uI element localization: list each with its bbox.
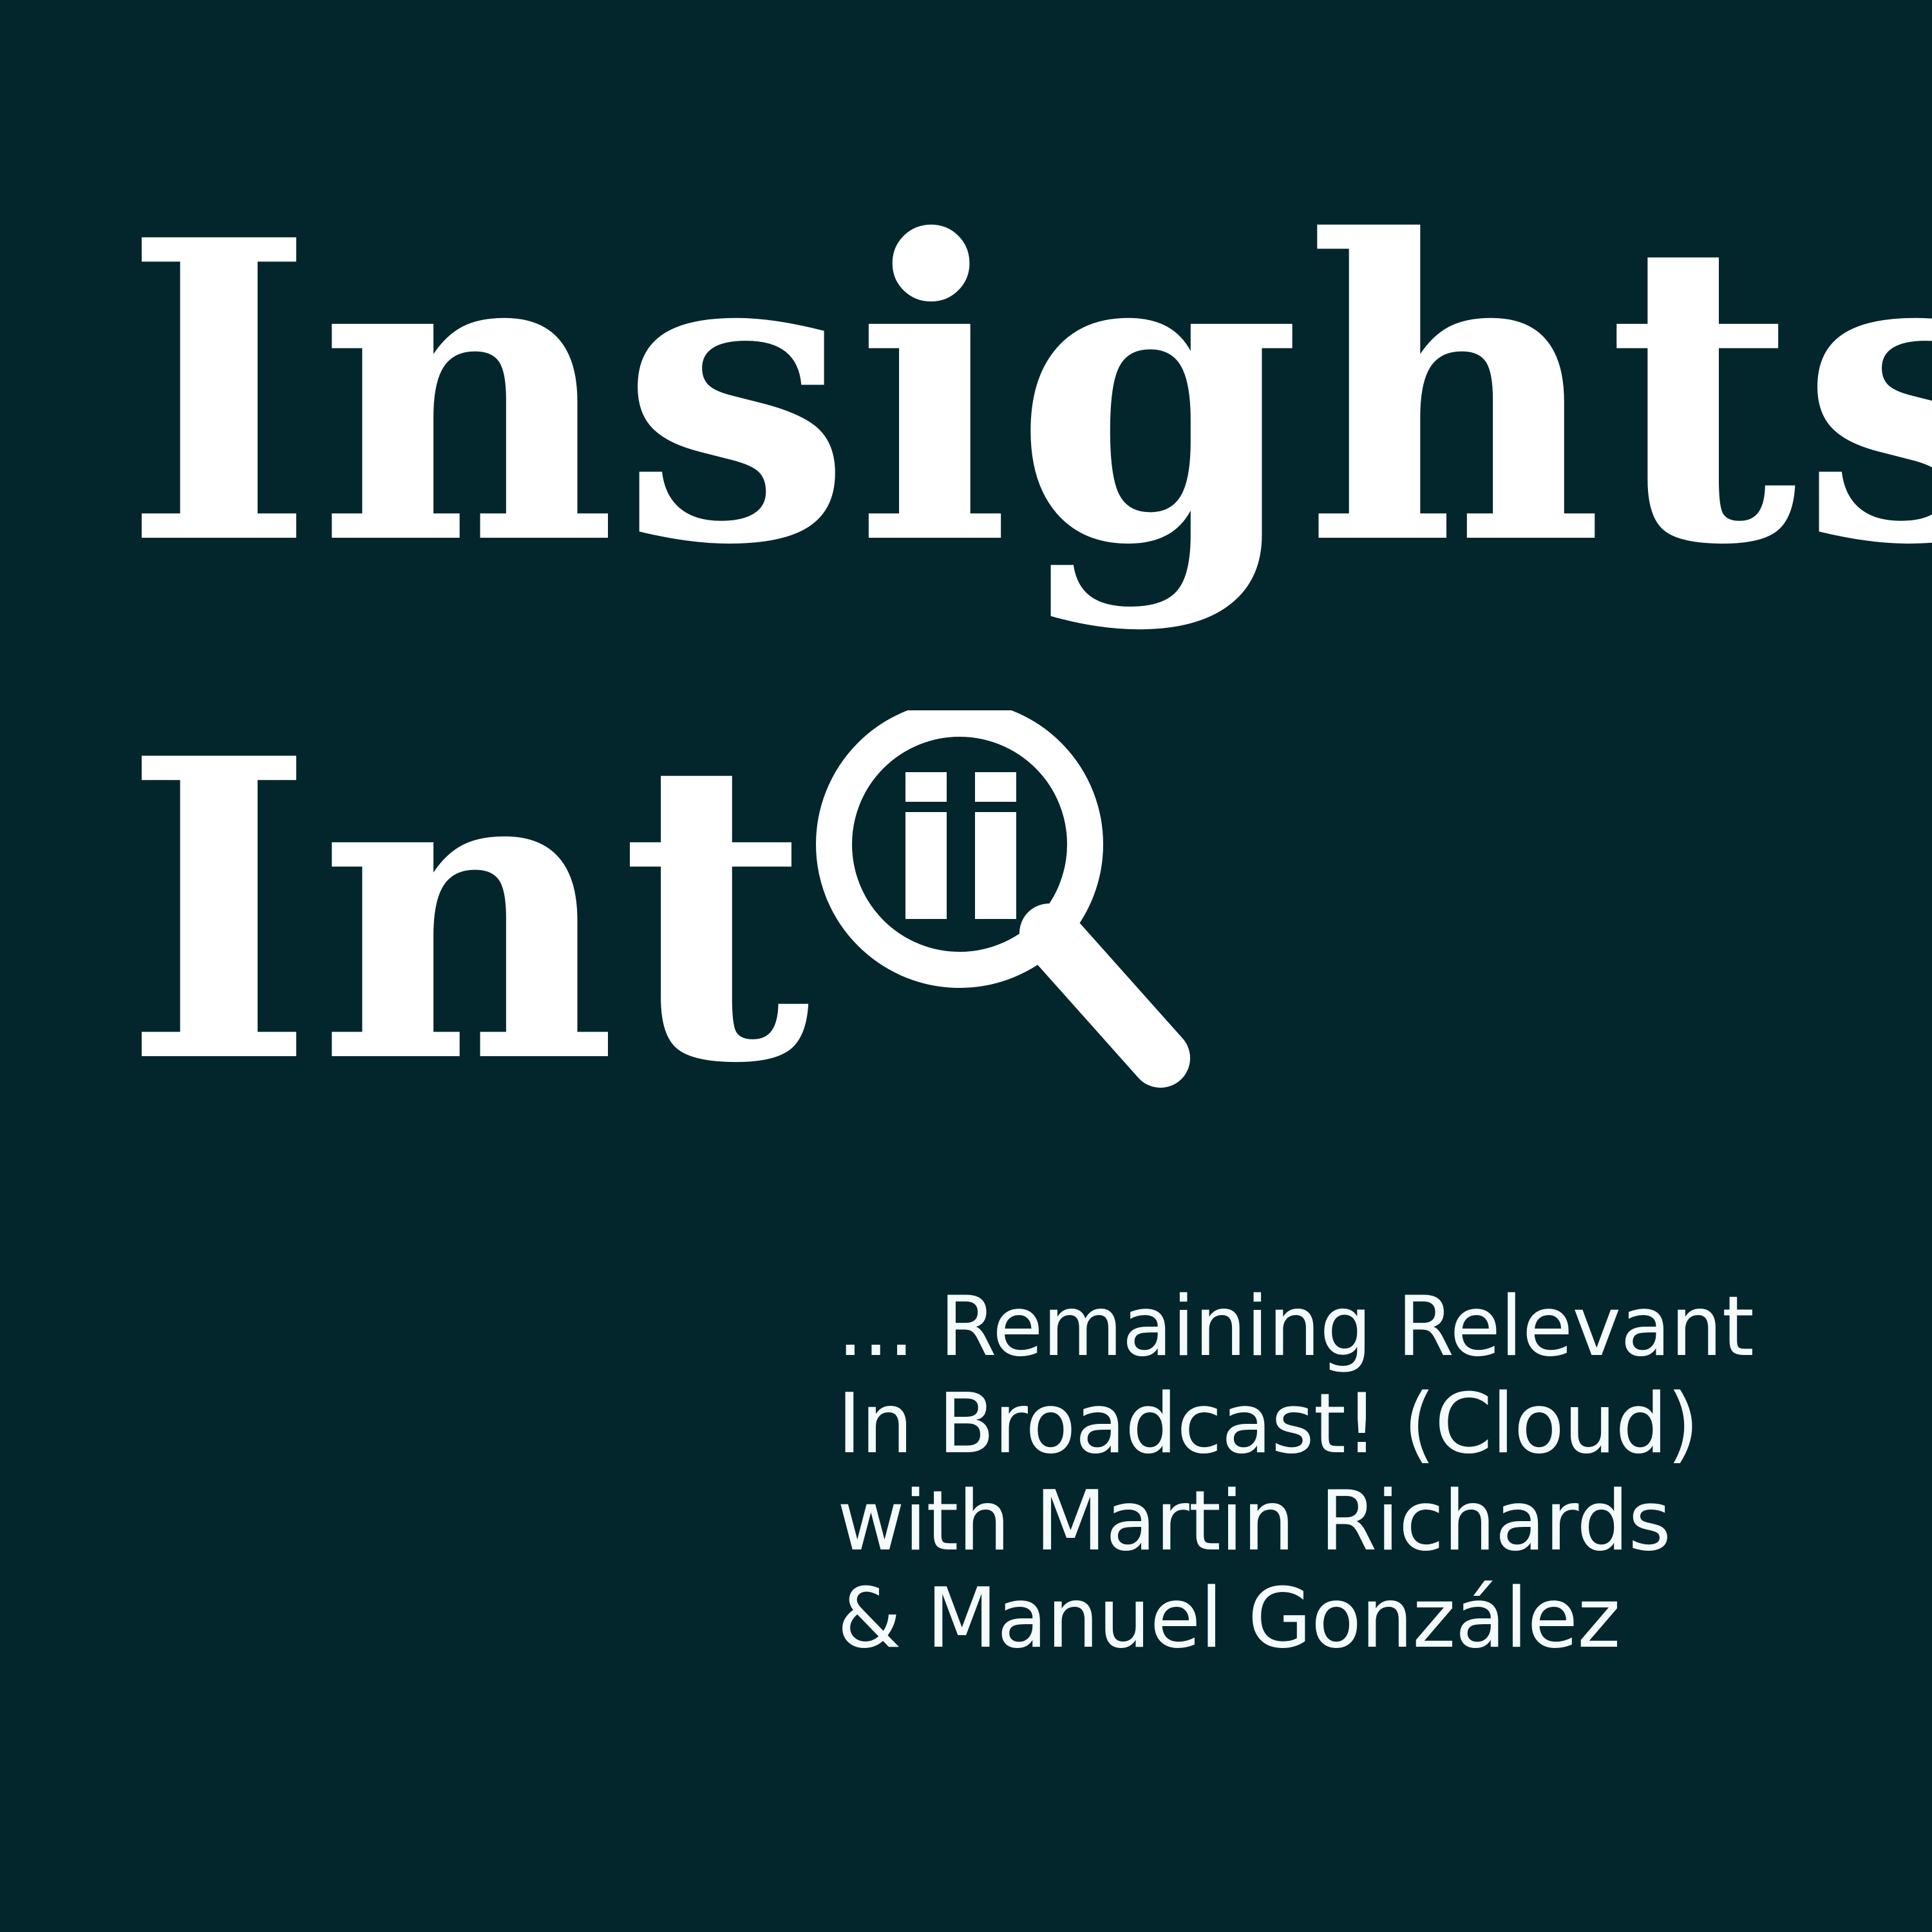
subtitle-line-1: ... Remaining Relevant: [837, 1278, 1932, 1376]
title-line-into-text: Int: [122, 705, 813, 1117]
subtitle-line-4: & Manuel González: [837, 1570, 1932, 1667]
title-line-into: Int: [122, 705, 1191, 1117]
podcast-cover-art: Insights Int ... Remaining Relevant In B…: [0, 0, 1932, 1932]
subtitle-line-2: In Broadcast! (Cloud): [837, 1376, 1932, 1473]
subtitle-line-3: with Martin Richards: [837, 1473, 1932, 1570]
title-line-insights: Insights: [122, 187, 1932, 599]
magnifying-glass-icon: [805, 710, 1191, 1110]
subtitle-block: ... Remaining Relevant In Broadcast! (Cl…: [837, 1278, 1932, 1667]
